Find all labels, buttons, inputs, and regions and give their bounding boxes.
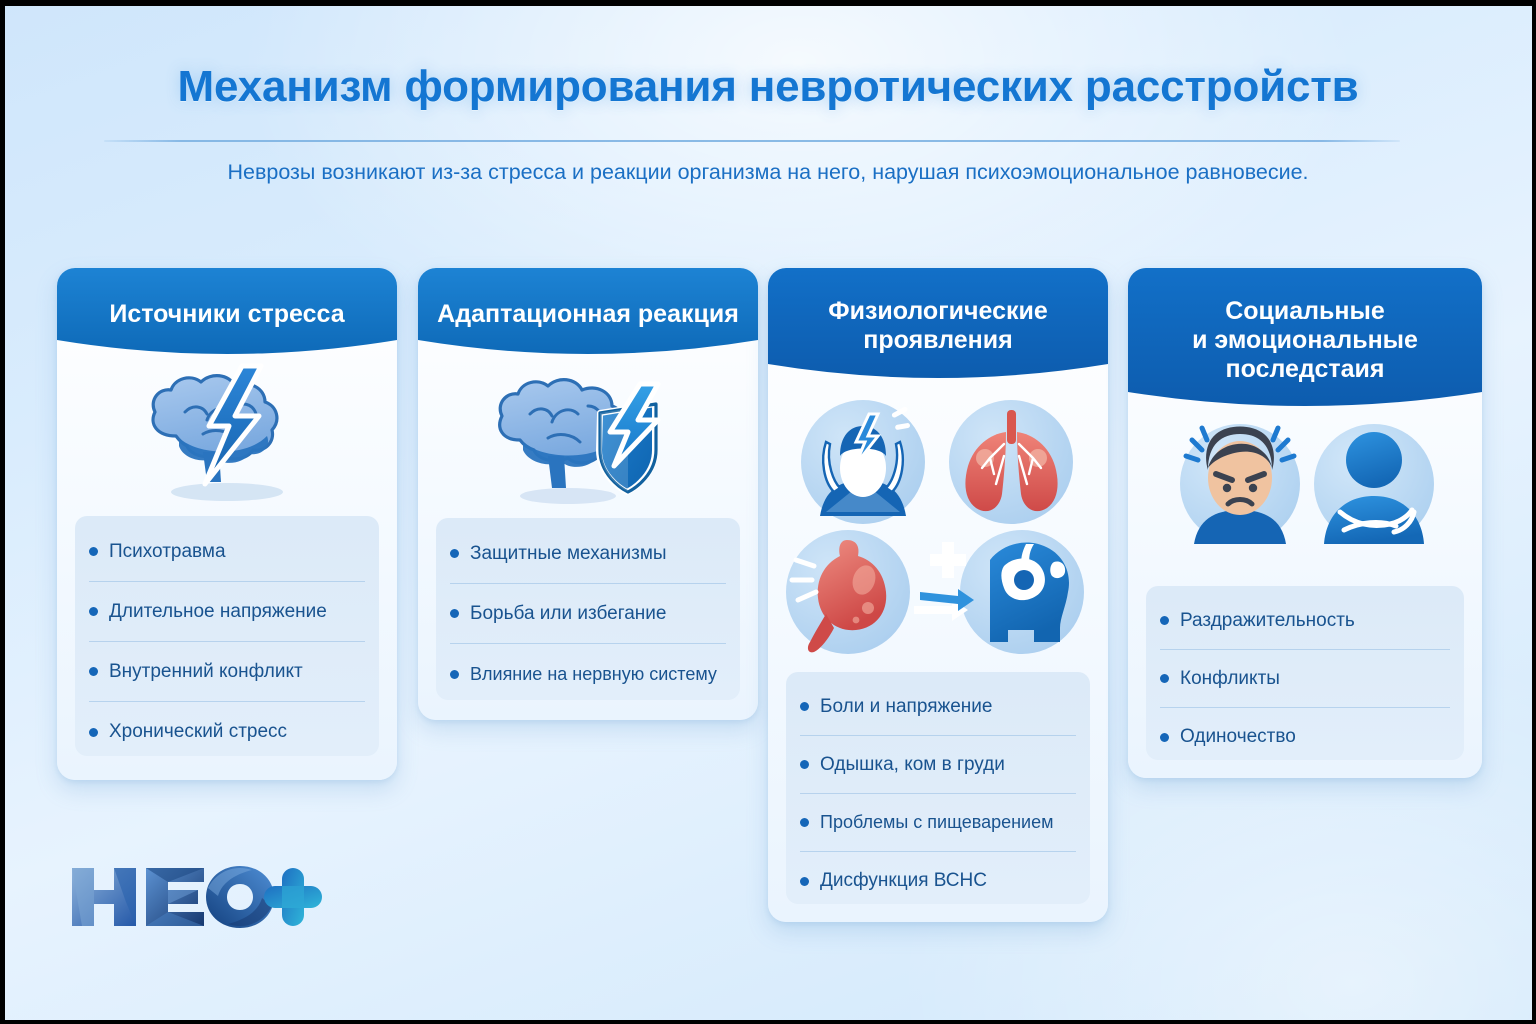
- infographic-canvas: Механизм формирования невротических расс…: [0, 0, 1536, 1024]
- card-2-icon-zone: [418, 360, 758, 512]
- card-4-list: Раздражительность Конфликты Одиночество: [1146, 586, 1464, 760]
- list-item-label: Хронический стресс: [109, 721, 287, 743]
- list-item-label: Влияние на нервную систему: [470, 664, 717, 685]
- card-2-header: Адаптационная реакция: [418, 268, 758, 360]
- list-item[interactable]: Одышка, ком в груди: [800, 736, 1076, 794]
- card-3-list: Боли и напряжение Одышка, ком в груди Пр…: [786, 672, 1090, 904]
- head-vns-icon: [990, 542, 1069, 642]
- bullet-dot: [89, 667, 98, 676]
- list-item[interactable]: Проблемы с пищеварением: [800, 794, 1076, 852]
- card-1-list: Психотравма Длительное напряжение Внутре…: [75, 516, 379, 756]
- card-3-title-line-1: Физиологические: [828, 297, 1048, 325]
- card-3-icon-zone: [768, 384, 1108, 662]
- list-item-label: Дисфункция ВСНС: [820, 870, 987, 892]
- list-item-label: Защитные механизмы: [470, 543, 667, 565]
- card-4-title-line-1: Социальные: [1225, 297, 1385, 325]
- card-3-title-line-2: проявления: [863, 326, 1012, 354]
- list-item[interactable]: Длительное напряжение: [89, 582, 365, 642]
- list-item[interactable]: Внутренний конфликт: [89, 642, 365, 702]
- card-adaptive-reaction[interactable]: Адаптационная реакция: [418, 268, 758, 720]
- card-sources-of-stress[interactable]: Источники стресса: [57, 268, 397, 780]
- card-social-emotional-consequences[interactable]: Социальные и эмоциональные последстаия: [1128, 268, 1482, 778]
- brand-logo[interactable]: [68, 862, 328, 932]
- page-title: Механизм формирования невротических расс…: [0, 62, 1536, 112]
- list-item[interactable]: Психотравма: [89, 522, 365, 582]
- card-3-header: Физиологические проявления: [768, 268, 1108, 384]
- brain-shield-lightning-icon: [418, 360, 758, 512]
- list-item[interactable]: Раздражительность: [1160, 592, 1450, 650]
- list-item-label: Длительное напряжение: [109, 601, 327, 623]
- bullet-dot: [1160, 616, 1169, 625]
- card-4-title-line-2: и эмоциональные: [1192, 326, 1418, 354]
- card-4-header: Социальные и эмоциональные последстаия: [1128, 268, 1482, 412]
- list-item[interactable]: Борьба или избегание: [450, 584, 726, 644]
- bullet-dot: [450, 609, 459, 618]
- card-1-icon-zone: [57, 360, 397, 510]
- card-2-list: Защитные механизмы Борьба или избегание …: [436, 518, 740, 700]
- bullet-dot: [450, 549, 459, 558]
- list-item-label: Конфликты: [1180, 668, 1280, 690]
- brain-lightning-icon: [57, 360, 397, 510]
- card-1-header: Источники стресса: [57, 268, 397, 360]
- list-item-label: Одиночество: [1180, 726, 1296, 748]
- list-item[interactable]: Боли и напряжение: [800, 678, 1076, 736]
- list-item-label: Проблемы с пищеварением: [820, 812, 1053, 833]
- list-item[interactable]: Защитные механизмы: [450, 524, 726, 584]
- list-item[interactable]: Одиночество: [1160, 708, 1450, 766]
- frame-edge-right: [1532, 0, 1536, 1024]
- card-4-title: Социальные и эмоциональные последстаия: [1182, 297, 1428, 384]
- list-item-label: Одышка, ком в груди: [820, 754, 1005, 776]
- card-4-icon-zone: [1128, 412, 1482, 552]
- physiological-icons-group: [768, 384, 1108, 662]
- list-item[interactable]: Влияние на нервную систему: [450, 644, 726, 704]
- bullet-dot: [1160, 674, 1169, 683]
- page-subtitle: Неврозы возникают из-за стресса и реакци…: [0, 160, 1536, 185]
- bullet-dot: [800, 702, 809, 711]
- frame-edge-top: [0, 0, 1536, 6]
- list-item[interactable]: Хронический стресс: [89, 702, 365, 762]
- bullet-dot: [1160, 733, 1169, 742]
- card-4-title-line-3: последстаия: [1226, 355, 1385, 383]
- list-item[interactable]: Дисфункция ВСНС: [800, 852, 1076, 910]
- list-item-label: Психотравма: [109, 541, 226, 563]
- card-3-title: Физиологические проявления: [818, 297, 1058, 355]
- bullet-dot: [450, 670, 459, 679]
- frame-edge-bottom: [0, 1020, 1536, 1024]
- list-item[interactable]: Конфликты: [1160, 650, 1450, 708]
- frame-edge-left: [0, 0, 5, 1024]
- card-2-title: Адаптационная реакция: [427, 300, 749, 329]
- neo-plus-logo-icon: [68, 862, 328, 932]
- bullet-dot: [800, 877, 809, 886]
- card-1-title: Источники стресса: [99, 300, 354, 329]
- list-item-label: Боли и напряжение: [820, 696, 992, 718]
- list-item-label: Борьба или избегание: [470, 603, 667, 625]
- list-item-label: Внутренний конфликт: [109, 661, 303, 683]
- social-icons-group: [1128, 412, 1482, 552]
- bullet-dot: [89, 728, 98, 737]
- plus-icon: [264, 868, 322, 926]
- bullet-dot: [89, 547, 98, 556]
- title-divider: [104, 140, 1400, 142]
- bullet-dot: [800, 760, 809, 769]
- bullet-dot: [800, 818, 809, 827]
- list-item-label: Раздражительность: [1180, 610, 1355, 632]
- card-physiological-manifestations[interactable]: Физиологические проявления: [768, 268, 1108, 922]
- bullet-dot: [89, 607, 98, 616]
